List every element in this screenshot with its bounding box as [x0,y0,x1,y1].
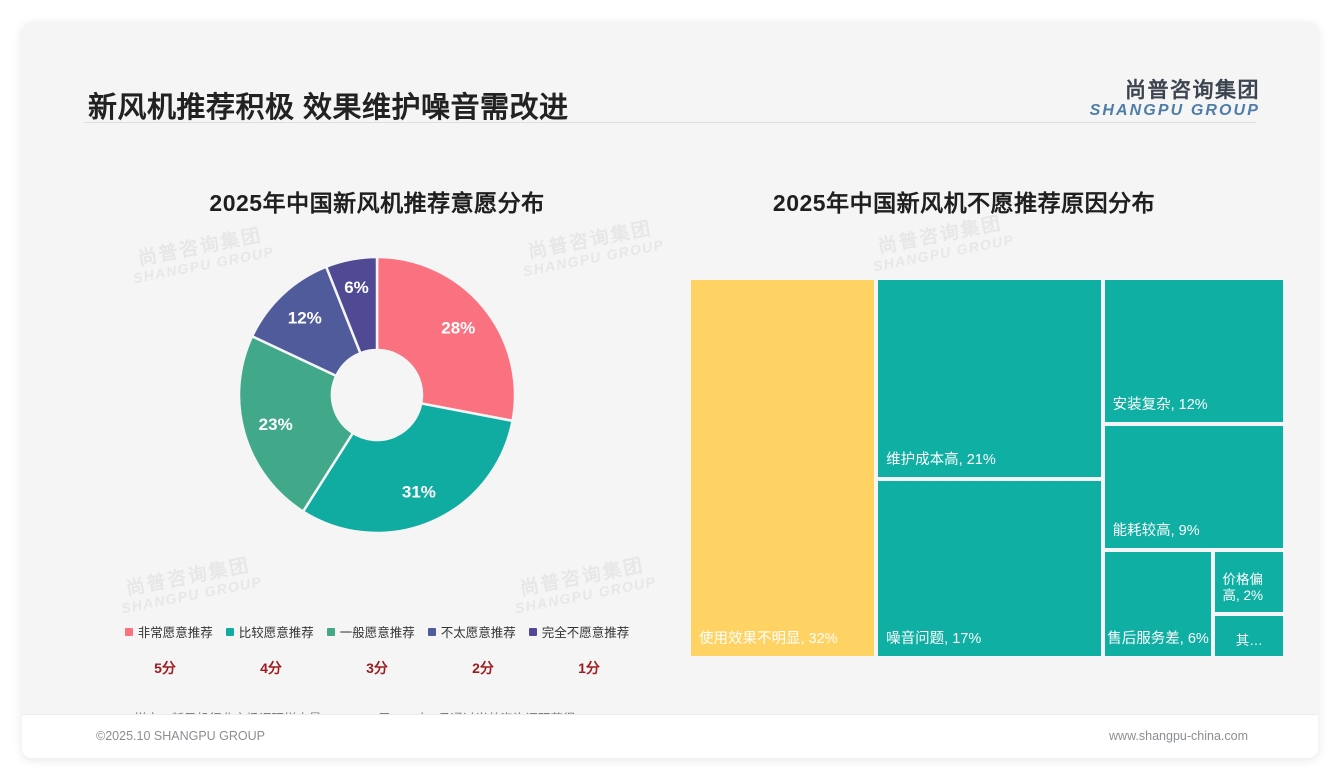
brand-logo: 尚普咨询集团 SHANGPU GROUP [1090,80,1260,120]
treemap-tile[interactable]: 使用效果不明显, 32% [689,278,876,658]
slide-header: 新风机推荐积极 效果维护噪音需改进 尚普咨询集团 SHANGPU GROUP [22,22,1318,122]
legend-label: 比较愿意推荐 [239,622,314,641]
legend-swatch-icon [529,628,537,636]
logo-chinese-text: 尚普咨询集团 [1090,80,1260,102]
copyright-text: ©2025.10 SHANGPU GROUP [96,729,265,743]
donut-chart-title: 2025年中国新风机推荐意愿分布 [84,184,670,218]
donut-slice-label: 23% [259,415,293,434]
treemap-tile-label: 安装复杂, 12% [1113,397,1208,415]
treemap-tile-label: 其… [1215,633,1283,649]
treemap-tile-label: 使用效果不明显, 32% [699,631,838,649]
legend-item[interactable]: 非常愿意推荐 [125,622,213,641]
treemap-tile-label: 价格偏高, 2% [1222,572,1279,605]
donut-slice-label: 12% [288,309,322,328]
score-label: 4分 [218,658,324,678]
treemap-tile[interactable]: 安装复杂, 12% [1103,278,1285,424]
score-scale-row: 5分4分3分2分1分 [112,658,642,678]
treemap-tile-label: 噪音问题, 17% [886,631,981,649]
donut-slice-label: 31% [402,482,436,501]
legend-swatch-icon [428,628,436,636]
score-label: 2分 [430,658,536,678]
treemap-tile[interactable]: 维护成本高, 21% [876,278,1102,479]
legend-label: 完全不愿意推荐 [542,622,630,641]
score-label: 1分 [536,658,642,678]
legend-label: 不太愿意推荐 [441,622,516,641]
donut-legend: 非常愿意推荐比较愿意推荐一般愿意推荐不太愿意推荐完全不愿意推荐 [84,622,670,641]
donut-slice[interactable] [377,257,515,421]
legend-item[interactable]: 不太愿意推荐 [428,622,516,641]
slide-canvas: 尚普咨询集团 SHANGPU GROUP 尚普咨询集团 SHANGPU GROU… [22,22,1318,758]
score-label: 5分 [112,658,218,678]
treemap-tile-label: 能耗较高, 9% [1113,523,1200,541]
slide-footer: ©2025.10 SHANGPU GROUP www.shangpu-china… [22,714,1318,758]
donut-slice-label: 28% [441,318,475,337]
treemap-tile[interactable]: 其… [1213,614,1285,658]
treemap-chart-title: 2025年中国新风机不愿推荐原因分布 [672,184,1256,218]
treemap-tile-label: 维护成本高, 21% [886,452,996,470]
donut-svg: 28%31%23%12%6% [232,250,522,540]
legend-swatch-icon [226,628,234,636]
treemap-chart-panel: 2025年中国新风机不愿推荐原因分布 使用效果不明显, 32%维护成本高, 21… [672,150,1256,695]
legend-swatch-icon [327,628,335,636]
legend-item[interactable]: 比较愿意推荐 [226,622,314,641]
legend-label: 一般愿意推荐 [340,622,415,641]
treemap-tile[interactable]: 噪音问题, 17% [876,479,1102,658]
logo-english-text: SHANGPU GROUP [1090,103,1260,120]
donut-slice-label: 6% [344,278,369,297]
donut-chart-panel: 2025年中国新风机推荐意愿分布 28%31%23%12%6% 非常愿意推荐比较… [84,150,670,695]
score-label: 3分 [324,658,430,678]
treemap-tile[interactable]: 能耗较高, 9% [1103,424,1285,550]
legend-label: 非常愿意推荐 [138,622,213,641]
treemap-tile[interactable]: 价格偏高, 2% [1213,550,1285,614]
donut-chart: 28%31%23%12%6% [232,250,522,540]
header-divider [84,122,1256,123]
legend-item[interactable]: 完全不愿意推荐 [529,622,630,641]
treemap-tile-label: 售后服务差, 6% [1105,631,1212,649]
treemap-chart: 使用效果不明显, 32%维护成本高, 21%噪音问题, 17%安装复杂, 12%… [689,278,1285,658]
page-title: 新风机推荐积极 效果维护噪音需改进 [88,84,569,126]
legend-item[interactable]: 一般愿意推荐 [327,622,415,641]
treemap-tile[interactable]: 售后服务差, 6% [1103,550,1214,658]
legend-swatch-icon [125,628,133,636]
website-text: www.shangpu-china.com [1109,729,1248,743]
